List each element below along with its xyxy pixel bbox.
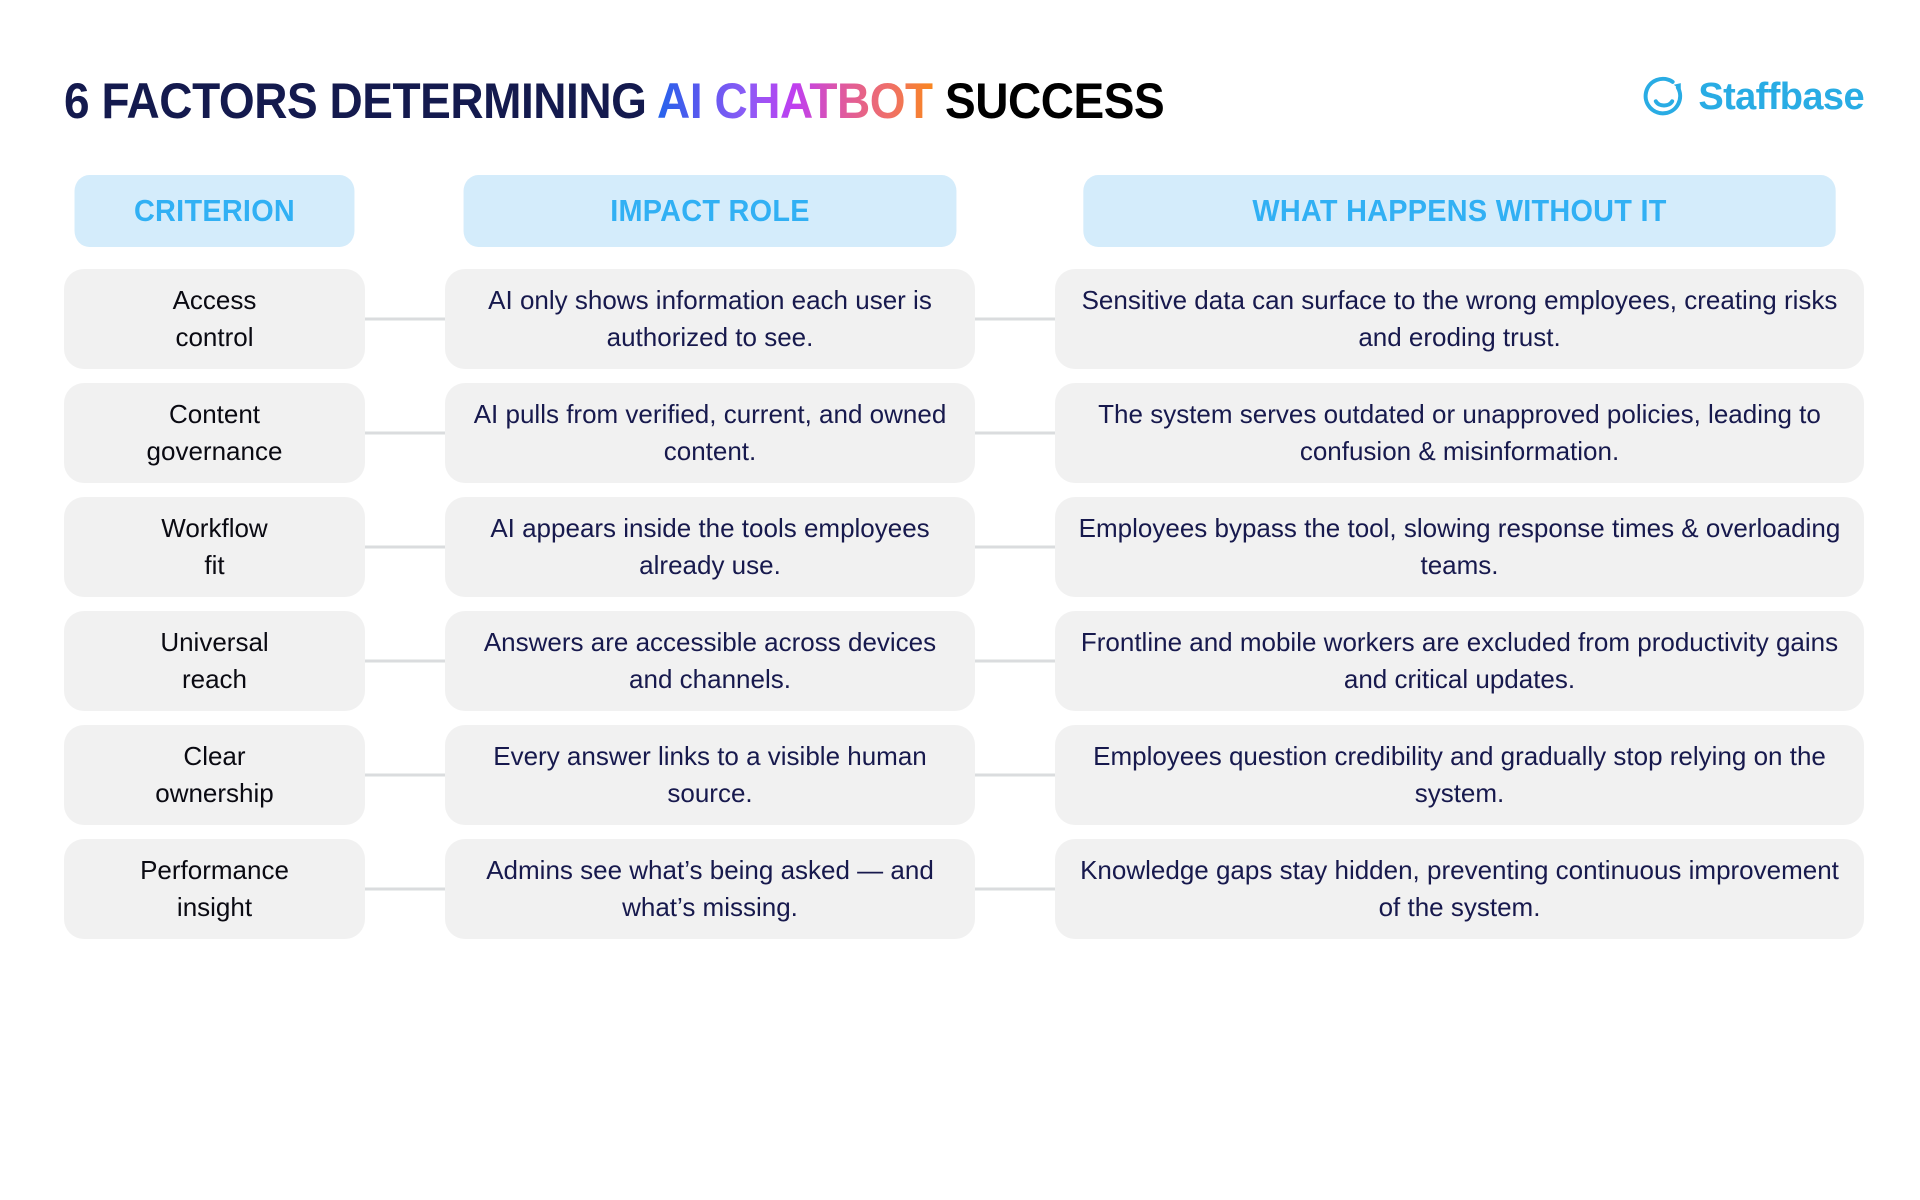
- criterion-cell: Performanceinsight: [64, 839, 365, 939]
- header-spacer-2: [975, 175, 1055, 247]
- table-row: Universalreach Answers are accessible ac…: [0, 611, 1920, 711]
- connector-line: [975, 660, 1055, 663]
- connector-criterion-impact: [365, 383, 445, 483]
- connector-criterion-impact: [365, 611, 445, 711]
- connector-criterion-impact: [365, 839, 445, 939]
- table-row: Performanceinsight Admins see what’s bei…: [0, 839, 1920, 939]
- row-col-criterion: Clearownership: [0, 725, 365, 825]
- connector-impact-without: [975, 839, 1055, 939]
- table-header-row: CRITERION IMPACT ROLE WHAT HAPPENS WITHO…: [0, 175, 1920, 247]
- connector-criterion-impact: [365, 725, 445, 825]
- header: 6 FACTORS DETERMINING AI CHATBOT SUCCESS…: [0, 0, 1920, 175]
- row-col-criterion: Contentgovernance: [0, 383, 365, 483]
- staffbase-logo: Staffbase: [1641, 74, 1864, 120]
- staffbase-smiley-icon: [1641, 74, 1687, 120]
- criterion-cell: Clearownership: [64, 725, 365, 825]
- column-header-impact-role: IMPACT ROLE: [464, 175, 957, 247]
- criterion-cell: Universalreach: [64, 611, 365, 711]
- row-col-impact: Every answer links to a visible human so…: [445, 725, 975, 825]
- row-col-without: Employees question credibility and gradu…: [1055, 725, 1920, 825]
- connector-impact-without: [975, 611, 1055, 711]
- table-row: Contentgovernance AI pulls from verified…: [0, 383, 1920, 483]
- connector-criterion-impact: [365, 497, 445, 597]
- row-col-impact: Admins see what’s being asked — and what…: [445, 839, 975, 939]
- row-col-impact: AI appears inside the tools employees al…: [445, 497, 975, 597]
- connector-impact-without: [975, 497, 1055, 597]
- header-col-impact: IMPACT ROLE: [445, 175, 975, 247]
- connector-line: [975, 546, 1055, 549]
- row-col-without: Knowledge gaps stay hidden, preventing c…: [1055, 839, 1920, 939]
- connector-line: [365, 888, 445, 891]
- impact-role-cell: AI only shows information each user is a…: [445, 269, 975, 369]
- impact-role-cell: Every answer links to a visible human so…: [445, 725, 975, 825]
- table-row: Workflowfit AI appears inside the tools …: [0, 497, 1920, 597]
- column-header-criterion: CRITERION: [75, 175, 355, 247]
- connector-line: [365, 774, 445, 777]
- impact-role-cell: Admins see what’s being asked — and what…: [445, 839, 975, 939]
- connector-impact-without: [975, 269, 1055, 369]
- without-it-cell: Knowledge gaps stay hidden, preventing c…: [1055, 839, 1864, 939]
- connector-line: [975, 318, 1055, 321]
- row-col-criterion: Accesscontrol: [0, 269, 365, 369]
- row-col-impact: AI only shows information each user is a…: [445, 269, 975, 369]
- criterion-cell: Accesscontrol: [64, 269, 365, 369]
- criterion-cell: Contentgovernance: [64, 383, 365, 483]
- connector-line: [365, 660, 445, 663]
- impact-role-cell: Answers are accessible across devices an…: [445, 611, 975, 711]
- row-col-without: The system serves outdated or unapproved…: [1055, 383, 1920, 483]
- staffbase-wordmark: Staffbase: [1698, 78, 1864, 116]
- row-col-impact: AI pulls from verified, current, and own…: [445, 383, 975, 483]
- column-header-what-happens-without-it: WHAT HAPPENS WITHOUT IT: [1083, 175, 1835, 247]
- without-it-cell: The system serves outdated or unapproved…: [1055, 383, 1864, 483]
- connector-line: [365, 546, 445, 549]
- row-col-without: Employees bypass the tool, slowing respo…: [1055, 497, 1920, 597]
- row-col-impact: Answers are accessible across devices an…: [445, 611, 975, 711]
- table-row: Accesscontrol AI only shows information …: [0, 269, 1920, 369]
- header-spacer-1: [365, 175, 445, 247]
- page-title-part2: SUCCESS: [933, 73, 1164, 129]
- connector-impact-without: [975, 383, 1055, 483]
- connector-line: [365, 432, 445, 435]
- row-col-without: Sensitive data can surface to the wrong …: [1055, 269, 1920, 369]
- row-col-criterion: Performanceinsight: [0, 839, 365, 939]
- without-it-cell: Sensitive data can surface to the wrong …: [1055, 269, 1864, 369]
- connector-line: [975, 432, 1055, 435]
- page-title: 6 FACTORS DETERMINING AI CHATBOT SUCCESS: [64, 72, 1164, 130]
- factors-table: CRITERION IMPACT ROLE WHAT HAPPENS WITHO…: [0, 175, 1920, 953]
- impact-role-cell: AI pulls from verified, current, and own…: [445, 383, 975, 483]
- connector-line: [975, 774, 1055, 777]
- impact-role-cell: AI appears inside the tools employees al…: [445, 497, 975, 597]
- connector-line: [975, 888, 1055, 891]
- criterion-cell: Workflowfit: [64, 497, 365, 597]
- table-row: Clearownership Every answer links to a v…: [0, 725, 1920, 825]
- page-title-part1: 6 FACTORS DETERMINING: [64, 73, 657, 129]
- connector-line: [365, 318, 445, 321]
- without-it-cell: Employees bypass the tool, slowing respo…: [1055, 497, 1864, 597]
- header-col-without: WHAT HAPPENS WITHOUT IT: [1055, 175, 1920, 247]
- infographic-page: 6 FACTORS DETERMINING AI CHATBOT SUCCESS…: [0, 0, 1920, 1200]
- connector-criterion-impact: [365, 269, 445, 369]
- header-col-criterion: CRITERION: [0, 175, 365, 247]
- without-it-cell: Employees question credibility and gradu…: [1055, 725, 1864, 825]
- row-col-without: Frontline and mobile workers are exclude…: [1055, 611, 1920, 711]
- row-col-criterion: Universalreach: [0, 611, 365, 711]
- page-title-highlight: AI CHATBOT: [657, 73, 933, 129]
- row-col-criterion: Workflowfit: [0, 497, 365, 597]
- connector-impact-without: [975, 725, 1055, 825]
- without-it-cell: Frontline and mobile workers are exclude…: [1055, 611, 1864, 711]
